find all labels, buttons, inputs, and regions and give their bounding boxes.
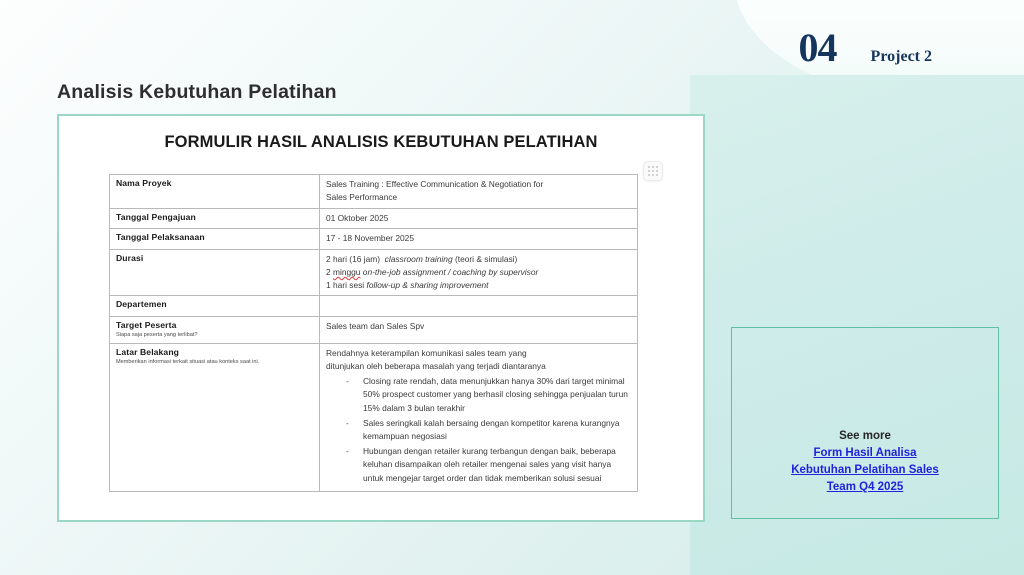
- row-value-line: Sales Performance: [326, 191, 631, 204]
- analysis-form-table: Nama Proyek Sales Training : Effective C…: [109, 174, 638, 492]
- see-more-link-line-1[interactable]: Form Hasil Analisa: [813, 445, 916, 462]
- row-value-line: 2 minggu on-the-job assignment / coachin…: [326, 266, 631, 279]
- row-value-cell: Rendahnya keterampilan komunikasi sales …: [320, 344, 638, 491]
- table-row: Tanggal Pengajuan 01 Oktober 2025: [110, 208, 638, 229]
- table-row: Tanggal Pelaksanaan 17 - 18 November 202…: [110, 229, 638, 250]
- row-value-cell: 17 - 18 November 2025: [320, 229, 638, 250]
- list-item: Closing rate rendah, data menunjukkan ha…: [326, 375, 631, 416]
- row-sublabel: Memberikan informasi terkait situasi ata…: [116, 358, 313, 366]
- row-value-line: Rendahnya keterampilan komunikasi sales …: [326, 347, 631, 360]
- see-more-label: See more: [839, 430, 891, 442]
- duration-line-1-italic: classroom training: [385, 254, 453, 264]
- background-bullet-list: Closing rate rendah, data menunjukkan ha…: [326, 375, 631, 486]
- page-title: Analisis Kebutuhan Pelatihan: [57, 81, 337, 104]
- slide-number: 04: [799, 24, 837, 71]
- row-label-cell: Tanggal Pelaksanaan: [110, 229, 320, 250]
- row-label: Tanggal Pelaksanaan: [116, 232, 313, 242]
- row-label-cell: Tanggal Pengajuan: [110, 208, 320, 229]
- table-row: Target Peserta Siapa saja peserta yang t…: [110, 317, 638, 344]
- row-label-cell: Durasi: [110, 250, 320, 296]
- row-value-cell: 01 Oktober 2025: [320, 208, 638, 229]
- row-label: Durasi: [116, 253, 313, 263]
- row-value-line: 2 hari (16 jam) classroom training (teor…: [326, 253, 631, 266]
- slide-header-badge: 04 Project 2: [799, 24, 932, 71]
- spellcheck-word: minggu: [333, 267, 360, 277]
- row-value-line: [326, 299, 631, 312]
- form-table-body: Nama Proyek Sales Training : Effective C…: [110, 175, 638, 492]
- table-row: Nama Proyek Sales Training : Effective C…: [110, 175, 638, 209]
- duration-line-1-suffix: (teori & simulasi): [453, 254, 518, 264]
- see-more-link-line-2[interactable]: Kebutuhan Pelatihan Sales: [791, 462, 939, 479]
- document-page: FORMULIR HASIL ANALISIS KEBUTUHAN PELATI…: [65, 120, 697, 520]
- row-label: Nama Proyek: [116, 178, 313, 188]
- row-value-line: 01 Oktober 2025: [326, 212, 631, 225]
- form-heading: FORMULIR HASIL ANALISIS KEBUTUHAN PELATI…: [65, 133, 697, 152]
- table-row: Departemen: [110, 296, 638, 317]
- grid-dots-handle-icon[interactable]: [643, 161, 663, 181]
- row-value-line: Sales team dan Sales Spv: [326, 320, 631, 333]
- see-more-link-line-3[interactable]: Team Q4 2025: [827, 479, 904, 496]
- duration-line-3-prefix: 1 hari sesi: [326, 280, 367, 290]
- row-label-cell: Target Peserta Siapa saja peserta yang t…: [110, 317, 320, 344]
- row-label-cell: Nama Proyek: [110, 175, 320, 209]
- row-value-line: 1 hari sesi follow-up & sharing improvem…: [326, 279, 631, 292]
- row-label-cell: Latar Belakang Memberikan informasi terk…: [110, 344, 320, 491]
- table-row: Latar Belakang Memberikan informasi terk…: [110, 344, 638, 491]
- row-label-cell: Departemen: [110, 296, 320, 317]
- grid-dots-glyph: [648, 166, 659, 177]
- row-value-cell: 2 hari (16 jam) classroom training (teor…: [320, 250, 638, 296]
- row-value-cell-empty: [320, 296, 638, 317]
- see-more-box: See more Form Hasil Analisa Kebutuhan Pe…: [731, 327, 999, 519]
- row-value-line: 17 - 18 November 2025: [326, 232, 631, 245]
- duration-line-1-prefix: 2 hari (16 jam): [326, 254, 385, 264]
- duration-line-2-italic: on-the-job assignment / coaching by supe…: [360, 267, 538, 277]
- row-sublabel: Siapa saja peserta yang terlibat?: [116, 331, 313, 339]
- row-value-line: ditunjukan oleh beberapa masalah yang te…: [326, 360, 631, 373]
- row-label: Departemen: [116, 299, 313, 309]
- list-item: Sales seringkali kalah bersaing dengan k…: [326, 417, 631, 444]
- document-preview-card[interactable]: FORMULIR HASIL ANALISIS KEBUTUHAN PELATI…: [57, 114, 705, 522]
- slide-section-label: Project 2: [871, 48, 932, 66]
- row-label: Target Peserta: [116, 320, 313, 330]
- row-value-cell: Sales team dan Sales Spv: [320, 317, 638, 344]
- duration-line-3-italic: follow-up & sharing improvement: [367, 280, 489, 290]
- list-item: Hubungan dengan retailer kurang terbangu…: [326, 445, 631, 486]
- row-label: Latar Belakang: [116, 347, 313, 357]
- row-label: Tanggal Pengajuan: [116, 212, 313, 222]
- table-row: Durasi 2 hari (16 jam) classroom trainin…: [110, 250, 638, 296]
- row-value-line: Sales Training : Effective Communication…: [326, 178, 631, 191]
- duration-line-2-prefix: 2: [326, 267, 333, 277]
- row-value-cell: Sales Training : Effective Communication…: [320, 175, 638, 209]
